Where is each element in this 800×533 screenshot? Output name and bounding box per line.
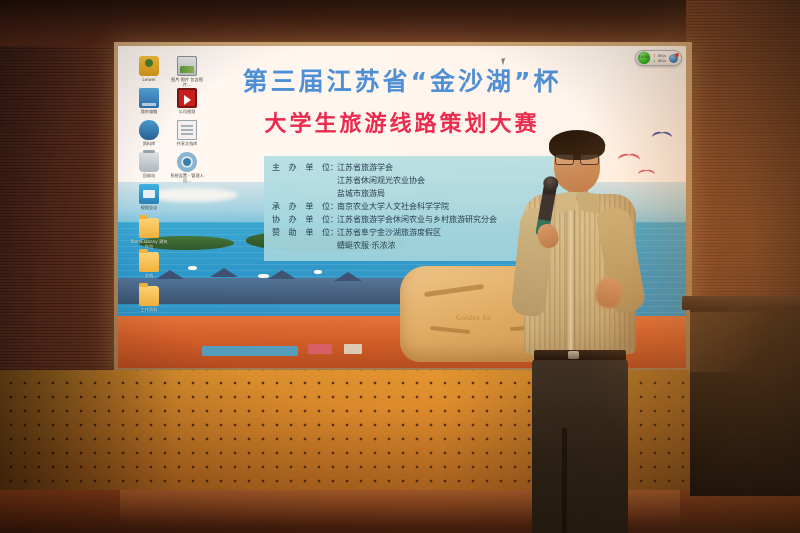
photo-scene: Golden Sa 第三届江苏省“金沙湖”杯 大学生旅游线路策划大赛 主办单位：… (0, 0, 800, 533)
pavilion-roof (210, 268, 238, 277)
network-icon[interactable]: 资料库 (130, 120, 168, 146)
status-ball-label: 100% (638, 55, 650, 59)
desktop-icon-label: 公司视频 (168, 109, 206, 114)
settings-icon[interactable]: 系统设置 - 管理人员... (168, 152, 206, 184)
speaker-leg-gap (562, 428, 567, 533)
download-rate: 0K/s (658, 58, 666, 63)
folder-icon (139, 252, 159, 272)
pavilion-roof (268, 270, 296, 279)
organizer-colon: ： (330, 227, 337, 240)
desktop-icon-label: 工作资料 (130, 307, 168, 312)
media-icon (139, 184, 159, 204)
belt-buckle (568, 351, 579, 359)
sand-sculpture-caption: Golden Sa (456, 314, 491, 322)
network-icon (139, 120, 159, 140)
document-icon (177, 120, 197, 140)
folder-icon[interactable]: 文档 (130, 252, 168, 278)
desktop-icon-label: 系统设置 - 管理人员... (168, 173, 206, 184)
status-ball-icon[interactable]: 100% (637, 51, 651, 65)
speaker-trousers (532, 358, 628, 533)
organizer-colon: ： (330, 214, 337, 227)
folder-icon (139, 218, 159, 238)
desktop-icon-label: 文档 (130, 273, 168, 278)
download-arrow-icon: ↓ (653, 58, 656, 63)
video-player-icon (177, 88, 197, 108)
desktop-icon-label: Leiwei (130, 77, 168, 82)
pavilion-roof (334, 272, 362, 281)
organizer-label: 主办单位 (272, 162, 330, 175)
computer-icon (139, 88, 159, 108)
app-logo-icon[interactable] (669, 54, 678, 63)
panel-shading (0, 370, 800, 492)
folder-icon[interactable]: 工作资料 (130, 286, 168, 312)
recycle-bin-icon[interactable]: 回收站 (130, 152, 168, 178)
network-speed-widget[interactable]: 100% ↑0K/s ↓0K/s (635, 50, 682, 66)
rate-readout: ↑0K/s ↓0K/s (653, 53, 666, 63)
boat (188, 266, 197, 270)
desktop-icon-label: 共享文档库 (168, 141, 206, 146)
desktop-icon-label: 图片·照片 包含图片... (168, 77, 206, 88)
folder-icon[interactable]: BanyElabany 建筑外包 (130, 218, 168, 250)
speaker-belt (534, 350, 626, 360)
user-account-icon (139, 56, 159, 76)
photo-building (344, 344, 362, 354)
desktop-icon-label: 回收站 (130, 173, 168, 178)
acoustic-panel (0, 370, 800, 492)
organizer-colon: ： (330, 162, 337, 175)
desktop-icon-label: 资料库 (130, 141, 168, 146)
desktop-icon-label: 视频会议 (130, 205, 168, 210)
media-icon[interactable]: 视频会议 (130, 184, 168, 210)
settings-icon (177, 152, 197, 172)
user-account-icon[interactable]: Leiwei (130, 56, 168, 82)
document-icon[interactable]: 共享文档库 (168, 120, 206, 146)
desktop-icon-label: BanyElabany 建筑外包 (130, 239, 168, 250)
organizer-label: 赞助单位 (272, 227, 330, 240)
organizer-colon: ： (330, 201, 337, 214)
picture-folder-icon[interactable]: 图片·照片 包含图片... (168, 56, 206, 88)
desktop-icon-label: 我的电脑 (130, 109, 168, 114)
folder-icon (139, 286, 159, 306)
piano-highlight (690, 312, 800, 372)
glasses-icon (555, 154, 599, 163)
speaker-person (516, 128, 646, 533)
shirt-placket (566, 200, 575, 352)
sand-carving (430, 326, 470, 334)
organizer-label: 协办单位 (272, 214, 330, 227)
photo-building (308, 344, 332, 354)
piano-lid (682, 296, 800, 310)
boat (314, 270, 322, 274)
photo-pool (202, 346, 298, 356)
recycle-bin-icon (139, 152, 159, 172)
organizer-label: 承办单位 (272, 201, 330, 214)
video-player-icon[interactable]: 公司视频 (168, 88, 206, 114)
sand-carving (424, 284, 484, 297)
picture-folder-icon (177, 56, 197, 76)
wall-top (0, 0, 800, 46)
computer-icon[interactable]: 我的电脑 (130, 88, 168, 114)
mouse-cursor-icon (501, 57, 509, 65)
